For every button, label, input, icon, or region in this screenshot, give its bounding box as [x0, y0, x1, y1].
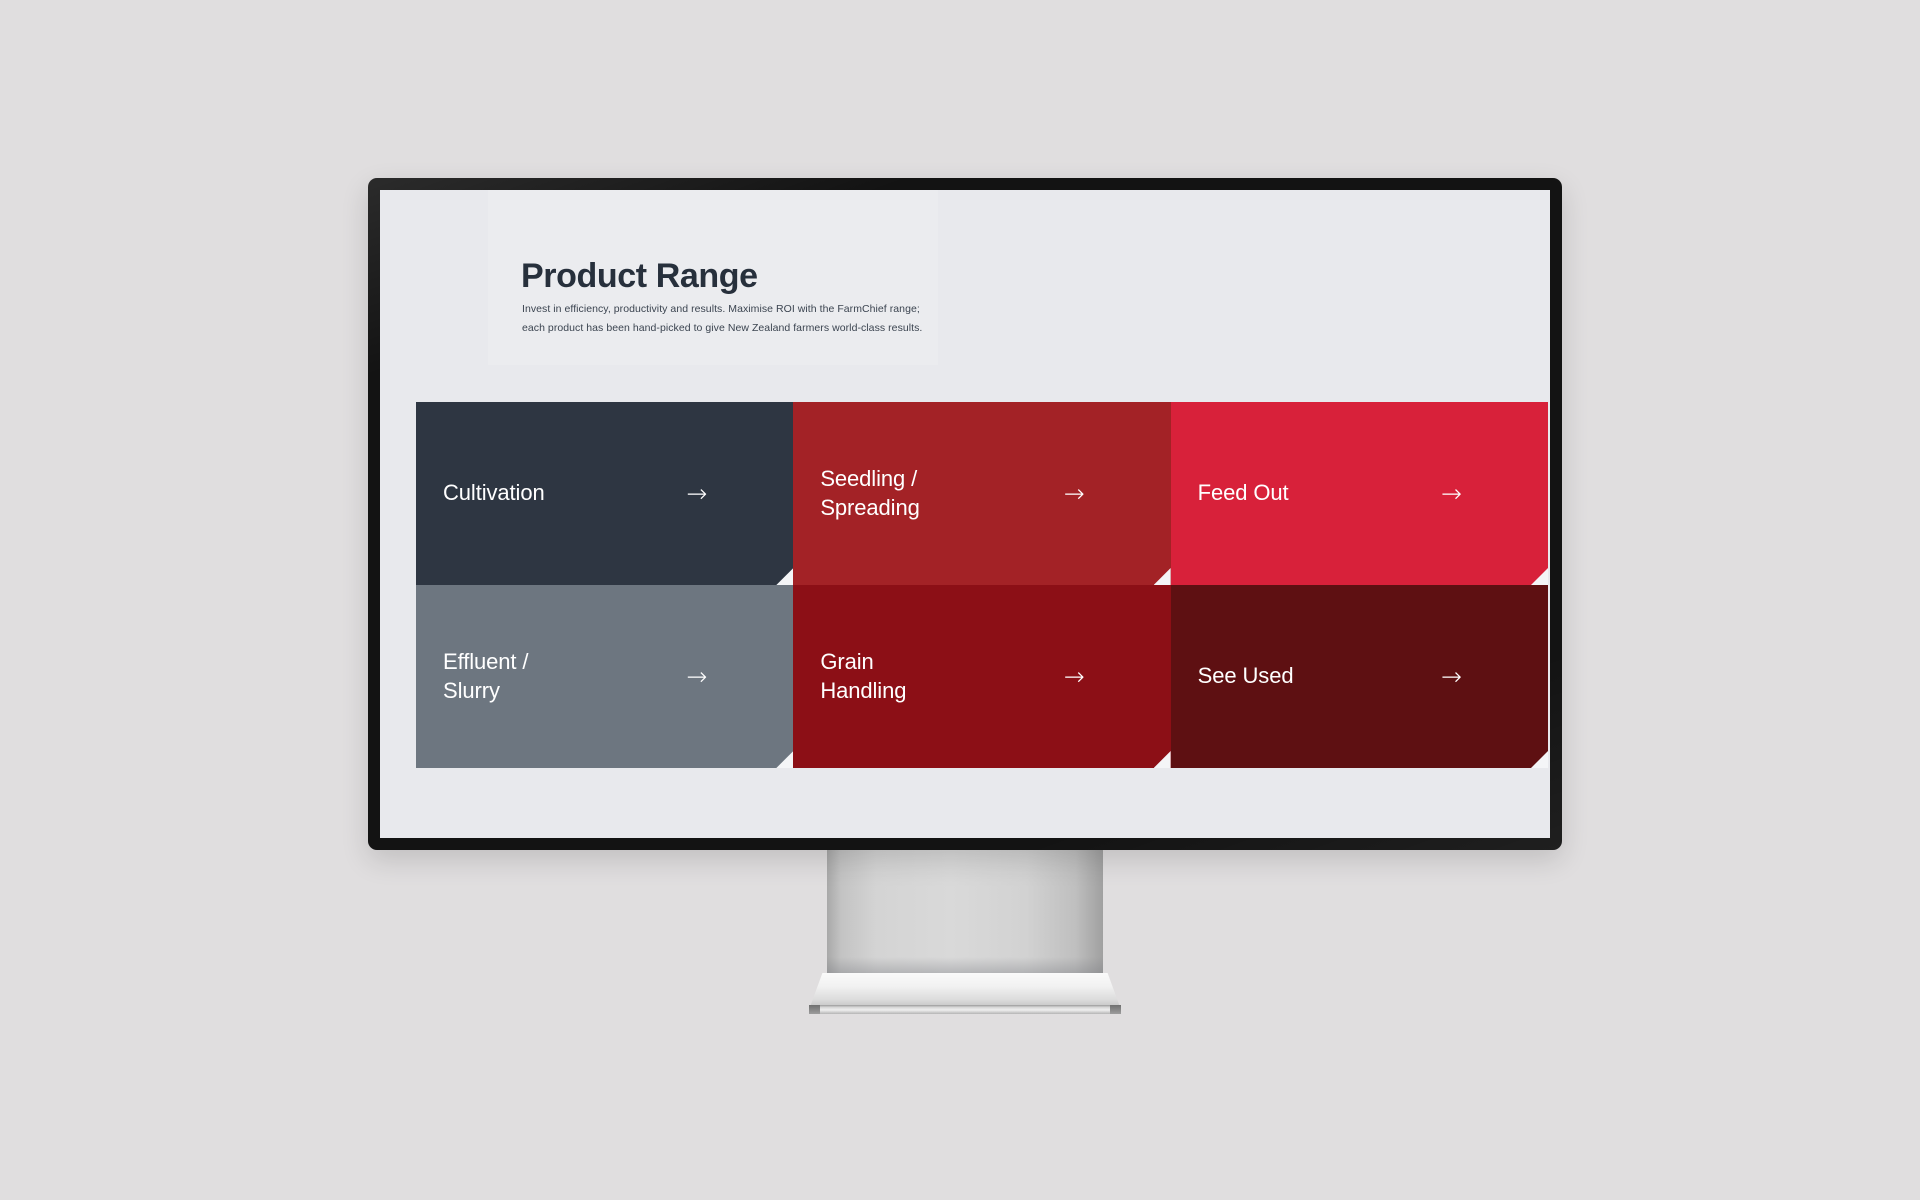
tile-label: Feed Out	[1198, 479, 1289, 507]
corner-notch	[1531, 751, 1548, 768]
page-description: Invest in efficiency, productivity and r…	[522, 300, 942, 339]
tile-label: Grain Handling	[820, 648, 906, 704]
tile-label: See Used	[1198, 662, 1294, 690]
arrow-right-icon: →	[686, 664, 707, 689]
stand-foot	[809, 1005, 1121, 1014]
corner-notch	[776, 751, 793, 768]
arrow-right-icon: →	[1441, 664, 1462, 689]
stand-base	[810, 973, 1120, 1007]
tile-grain-handling[interactable]: Grain Handling →	[793, 585, 1170, 768]
tile-effluent-slurry[interactable]: Effluent / Slurry →	[416, 585, 793, 768]
corner-notch	[776, 568, 793, 585]
product-category-grid: Cultivation → Seedling / Spreading → Fee…	[416, 402, 1548, 768]
page-title: Product Range	[521, 257, 758, 296]
tile-feed-out[interactable]: Feed Out →	[1171, 402, 1548, 585]
tile-seedling-spreading[interactable]: Seedling / Spreading →	[793, 402, 1170, 585]
monitor-stand	[368, 848, 1562, 1026]
corner-notch	[1531, 568, 1548, 585]
tile-label: Cultivation	[443, 479, 545, 507]
tile-label: Effluent / Slurry	[443, 648, 528, 704]
tile-label: Seedling / Spreading	[820, 465, 919, 521]
arrow-right-icon: →	[686, 481, 707, 506]
monitor-mockup: Product Range Invest in efficiency, prod…	[368, 178, 1562, 850]
tile-cultivation[interactable]: Cultivation →	[416, 402, 793, 585]
arrow-right-icon: →	[1441, 481, 1462, 506]
corner-notch	[1154, 568, 1171, 585]
arrow-right-icon: →	[1064, 664, 1085, 689]
arrow-right-icon: →	[1064, 481, 1085, 506]
tile-see-used[interactable]: See Used →	[1171, 585, 1548, 768]
stand-neck	[827, 848, 1103, 977]
website-page: Product Range Invest in efficiency, prod…	[380, 190, 1550, 838]
monitor-screen: Product Range Invest in efficiency, prod…	[380, 190, 1550, 838]
corner-notch	[1154, 751, 1171, 768]
